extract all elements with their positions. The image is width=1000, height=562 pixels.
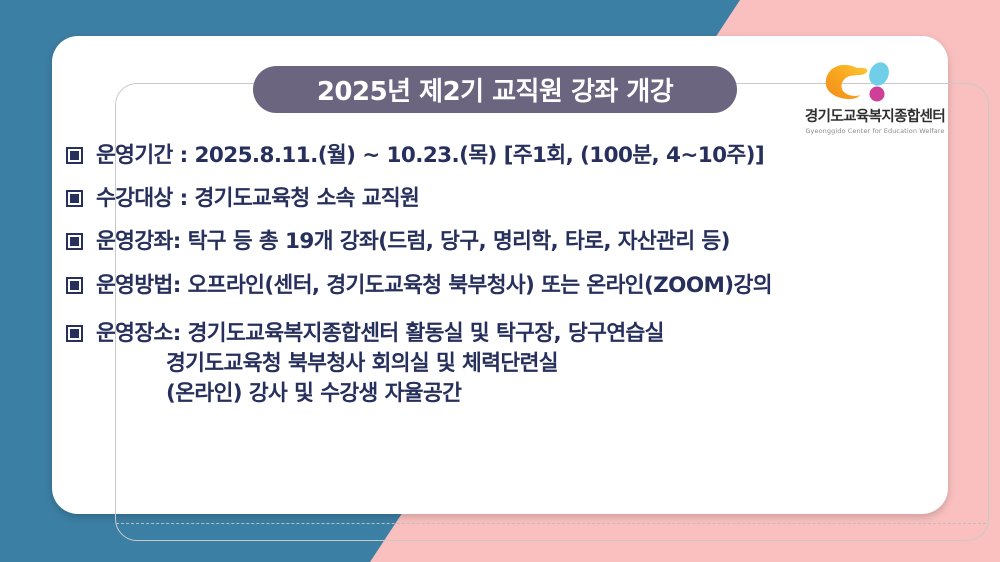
card-dashed-divider	[116, 523, 986, 524]
page-title: 2025년 제2기 교직원 강좌 개강	[317, 71, 673, 108]
filled-square-bullet-icon	[66, 277, 83, 294]
list-item-label: 운영방법: 오프라인(센터, 경기도교육청 북부청사) 또는 온라인(ZOOM)…	[96, 270, 926, 301]
list-item-subline: (온라인) 강사 및 수강생 자율공간	[96, 379, 926, 410]
list-item-label: 운영장소: 경기도교육복지종합센터 활동실 및 탁구장, 당구연습실	[96, 318, 926, 349]
bullet-list: 운영기간 : 2025.8.11.(월) ~ 10.23.(목) [주1회, (…	[66, 140, 926, 422]
list-item-subline: 경기도교육청 북부청사 회의실 및 체력단련실	[96, 349, 926, 380]
swoosh-flower-logo-icon	[800, 58, 950, 110]
organization-logo: 경기도교육복지종합센터 Gyeonggido Center for Educat…	[800, 58, 950, 143]
list-item: 운영방법: 오프라인(센터, 경기도교육청 북부청사) 또는 온라인(ZOOM)…	[66, 270, 926, 301]
list-item-body: 운영기간 : 2025.8.11.(월) ~ 10.23.(목) [주1회, (…	[96, 140, 926, 171]
logo-name-korean: 경기도교육복지종합센터	[800, 110, 950, 126]
list-item-body: 운영강좌: 탁구 등 총 19개 강좌(드럼, 당구, 명리학, 타로, 자산관…	[96, 226, 926, 257]
list-item-label: 운영강좌: 탁구 등 총 19개 강좌(드럼, 당구, 명리학, 타로, 자산관…	[96, 226, 926, 257]
list-item-label: 운영기간 : 2025.8.11.(월) ~ 10.23.(목) [주1회, (…	[96, 140, 926, 171]
filled-square-bullet-icon	[66, 190, 83, 207]
list-item: 운영장소: 경기도교육복지종합센터 활동실 및 탁구장, 당구연습실 경기도교육…	[66, 318, 926, 410]
filled-square-bullet-icon	[66, 233, 83, 250]
poster-root: 2025년 제2기 교직원 강좌 개강 경기도교육복지종합센터 Gyeonggi…	[0, 0, 1000, 562]
list-item-body: 운영방법: 오프라인(센터, 경기도교육청 북부청사) 또는 온라인(ZOOM)…	[96, 270, 926, 301]
filled-square-bullet-icon	[66, 325, 83, 342]
list-item-body: 운영장소: 경기도교육복지종합센터 활동실 및 탁구장, 당구연습실 경기도교육…	[96, 318, 926, 410]
list-item: 수강대상 : 경기도교육청 소속 교직원	[66, 183, 926, 214]
filled-square-bullet-icon	[66, 147, 83, 164]
list-item: 운영기간 : 2025.8.11.(월) ~ 10.23.(목) [주1회, (…	[66, 140, 926, 171]
list-item: 운영강좌: 탁구 등 총 19개 강좌(드럼, 당구, 명리학, 타로, 자산관…	[66, 226, 926, 257]
list-item-label: 수강대상 : 경기도교육청 소속 교직원	[96, 183, 926, 214]
title-badge: 2025년 제2기 교직원 강좌 개강	[253, 66, 737, 113]
list-item-body: 수강대상 : 경기도교육청 소속 교직원	[96, 183, 926, 214]
logo-name-english: Gyeonggido Center for Education Welfare	[800, 127, 950, 135]
